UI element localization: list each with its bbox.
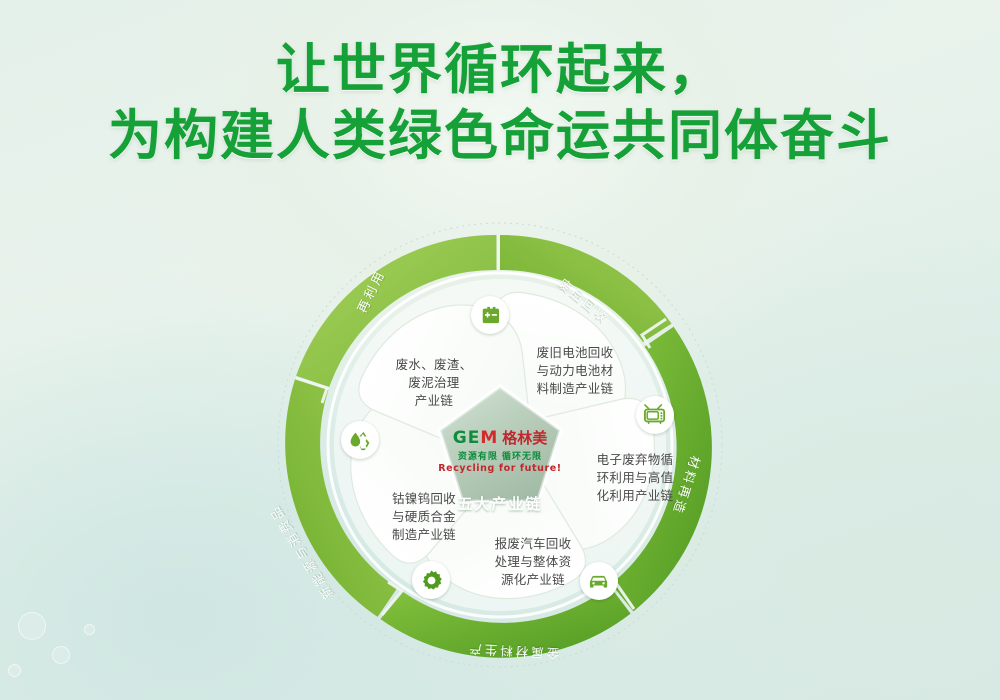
logo-gem-mark: GEM: [453, 430, 499, 447]
chain-label-scrap-vehicle: 报废汽车回收 处理与整体资 源化产业链: [474, 535, 592, 589]
logo-slogan-cn: 资源有限 循环无限: [434, 449, 566, 462]
page-title-line-2: 为构建人类绿色命运共同体奋斗: [0, 104, 1000, 170]
decorative-bubble: [8, 664, 21, 677]
water-recycle-icon: [348, 429, 372, 452]
poster-canvas: 让世界循环起来， 为构建人类绿色命运共同体奋斗: [0, 0, 1000, 700]
gear-icon: [420, 569, 443, 592]
car-icon: [587, 571, 611, 591]
logo-brand-cn: 格林美: [502, 431, 547, 446]
chain-label-waste-water: 废水、废渣、 废泥治理 产业链: [375, 356, 493, 410]
decorative-bubble: [84, 624, 95, 635]
badge-water-recycle[interactable]: [341, 421, 379, 459]
page-title-line-1: 让世界循环起来，: [0, 38, 1000, 104]
page-title: 让世界循环起来， 为构建人类绿色命运共同体奋斗: [0, 38, 1000, 170]
gem-logo: GEM 格林美 资源有限 循环无限 Recycling for future! …: [434, 430, 566, 514]
television-icon: [643, 404, 667, 426]
chain-label-battery: 废旧电池回收 与动力电池材 料制造产业链: [513, 344, 637, 398]
badge-car[interactable]: [580, 562, 618, 600]
badge-gear[interactable]: [412, 561, 450, 599]
center-caption: 五大产业链: [434, 493, 566, 514]
decorative-bubble: [52, 646, 70, 664]
badge-battery[interactable]: [471, 296, 509, 334]
battery-icon: [479, 305, 501, 325]
badge-television[interactable]: [636, 396, 674, 434]
logo-slogan-en: Recycling for future!: [434, 463, 566, 474]
logo-brandline: GEM 格林美: [434, 430, 566, 447]
decorative-bubble: [18, 612, 46, 640]
